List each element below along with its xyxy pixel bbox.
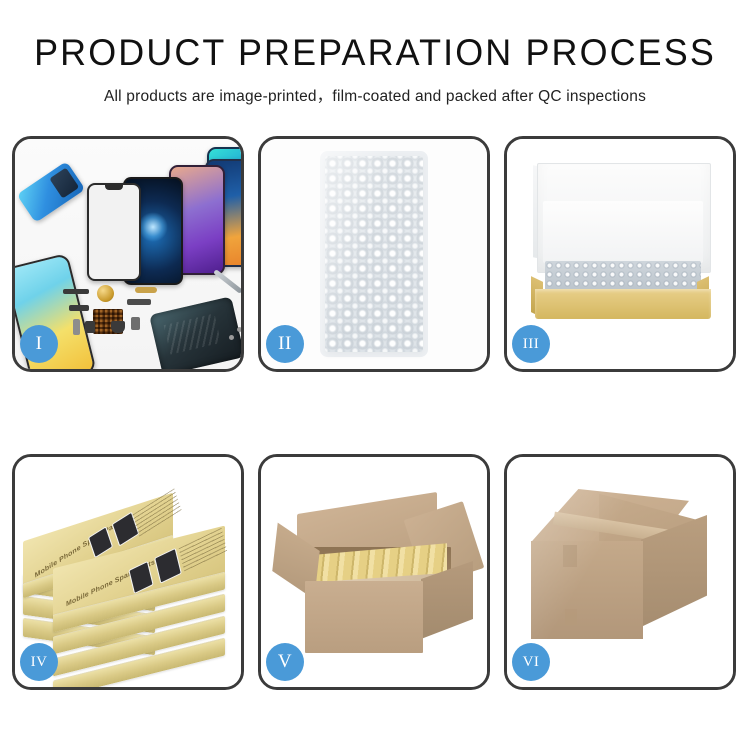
carton-front-panel <box>305 581 423 653</box>
step-badge-2: II <box>266 325 304 363</box>
step-panel-3: III <box>504 136 736 372</box>
part-speaker-coil <box>97 285 114 302</box>
step-badge-3: III <box>512 325 550 363</box>
screen-glass-protector <box>87 183 141 281</box>
phone-blue-tilted <box>17 161 86 223</box>
step-badge-4: IV <box>20 643 58 681</box>
part-button <box>85 321 95 333</box>
step-badge-1: I <box>20 325 58 363</box>
box-spec-lines <box>132 488 182 537</box>
box-screen-graphic <box>154 548 182 584</box>
step-badge-5: V <box>266 643 304 681</box>
header: PRODUCT PREPARATION PROCESS All products… <box>0 0 750 106</box>
box-foam-liner <box>543 201 703 263</box>
part-flex-cable <box>135 287 157 293</box>
box-front-panel <box>535 289 711 319</box>
part-back-housing <box>149 296 241 369</box>
tool-tweezers <box>213 269 241 294</box>
carton-seam-upper <box>563 545 577 567</box>
page-title: PRODUCT PREPARATION PROCESS <box>11 34 739 71</box>
part-antenna-flex <box>127 299 151 305</box>
steps-grid: I II III <box>12 136 738 690</box>
box-stack: Mobile Phone Spare Parts Mobile Phone Sp… <box>23 475 239 675</box>
page-subtitle: All products are image-printed，film-coat… <box>0 84 750 106</box>
part-sim-tray <box>73 319 80 335</box>
step-panel-1: I <box>12 136 244 372</box>
part-screw <box>229 335 234 340</box>
step-badge-6: VI <box>512 643 550 681</box>
step-panel-4: Mobile Phone Spare Parts Mobile Phone Sp… <box>12 454 244 690</box>
product-preparation-infographic: PRODUCT PREPARATION PROCESS All products… <box>0 0 750 750</box>
part-vibrator <box>131 317 140 330</box>
step-panel-6: VI <box>504 454 736 690</box>
step-panel-2: II <box>258 136 490 372</box>
part-camera-module <box>111 321 125 333</box>
box-spec-lines <box>179 528 228 572</box>
carton-front-panel <box>531 541 643 639</box>
part-bracket <box>69 305 89 311</box>
part-connector <box>63 289 89 294</box>
part-screw <box>237 327 241 332</box>
film-highlight <box>320 151 428 357</box>
step-panel-5: V <box>258 454 490 690</box>
carton-seam-lower <box>565 609 577 625</box>
